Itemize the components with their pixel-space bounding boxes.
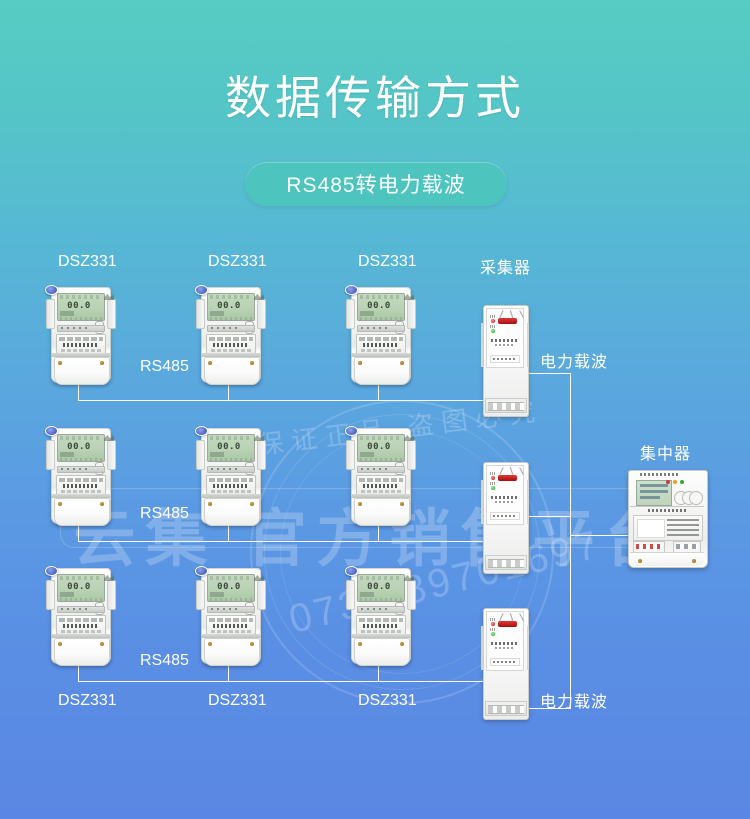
meter-right-bracket (107, 580, 116, 610)
concentrator-terminal-row (633, 541, 701, 551)
meter-reading: 00.0 (358, 442, 400, 452)
meter-button-strip[interactable] (357, 606, 405, 613)
nameplate-barcode (63, 484, 99, 488)
nameplate-line-3 (61, 630, 101, 633)
nameplate-line-3 (361, 490, 401, 493)
collector-terminal-block (485, 701, 527, 716)
screw-left-icon (358, 642, 362, 646)
meter-lcd-display: 00.0 (207, 434, 255, 462)
meter-dsz331-r2c1[interactable]: 00.0 (45, 426, 117, 526)
collector-notice-box (490, 355, 520, 363)
collector-pointer-lines-icon (499, 467, 525, 475)
nameplate-line-1 (59, 337, 103, 341)
seal-sticker-icon (345, 285, 358, 295)
screw-right-icon (250, 361, 254, 365)
meter-right-bracket (107, 440, 116, 470)
collector-left-notch (481, 626, 483, 670)
collector-status-strip (498, 318, 517, 324)
collector-front-panel (486, 308, 524, 368)
label-collector: 采集器 (480, 254, 531, 278)
screw-left-icon (58, 502, 62, 506)
label-carrier-row3: 电力载波 (540, 688, 608, 712)
screw-left-icon (58, 642, 62, 646)
meter-button-strip[interactable] (207, 466, 255, 473)
nameplate-line-3 (211, 630, 251, 633)
meter-button-strip[interactable] (357, 325, 405, 332)
nameplate-line-3 (211, 490, 251, 493)
collector-status-strip (498, 621, 517, 627)
lcd-segment-row (210, 576, 252, 580)
lcd-bar-indicator (60, 592, 74, 597)
lcd-bottom-row (360, 598, 402, 601)
label-rs485-row3: RS485 (140, 652, 189, 670)
lcd-segment-row (360, 436, 402, 440)
seal-sticker-icon (45, 566, 58, 576)
meter-lcd-display: 00.0 (357, 434, 405, 462)
lcd-bar-indicator (60, 452, 74, 457)
watermark-phone: 0731-89701697 (279, 521, 610, 644)
meter-lcd-display: 00.0 (357, 574, 405, 602)
nameplate-barcode (213, 484, 249, 488)
lcd-bottom-row (210, 598, 252, 601)
collector-spec-text (495, 647, 515, 649)
meter-right-bracket (257, 440, 266, 470)
seal-sticker-icon (345, 426, 358, 436)
lcd-segment-row (60, 576, 102, 580)
mode-pill[interactable]: RS485转电力载波 (245, 162, 507, 206)
lcd-bar-indicator (360, 592, 374, 597)
seal-sticker-icon (195, 285, 208, 295)
screw-right-icon (250, 642, 254, 646)
meter-dsz331-r2c2[interactable]: 00.0 (195, 426, 267, 526)
lcd-bar-indicator (210, 592, 224, 597)
meter-button-strip[interactable] (207, 325, 255, 332)
meter-reading: 00.0 (358, 582, 400, 592)
screw-left-icon (208, 502, 212, 506)
meter-left-bracket (46, 580, 55, 610)
meter-reading: 00.0 (358, 301, 400, 311)
label-meter-r3c3: DSZ331 (358, 692, 417, 710)
meter-right-bracket (407, 440, 416, 470)
meter-button-strip[interactable] (57, 466, 105, 473)
meter-button-strip[interactable] (357, 466, 405, 473)
meter-lcd-display: 00.0 (357, 293, 405, 321)
meter-nameplate (356, 475, 406, 495)
label-concentrator: 集中器 (640, 440, 691, 464)
concentrator-keypad[interactable] (674, 490, 700, 506)
screw-right-icon (400, 502, 404, 506)
concentrator-divider (630, 506, 704, 507)
collector-label-tick-2 (490, 628, 496, 631)
lcd-bar-indicator (360, 311, 374, 316)
collector-red-led-icon (491, 319, 495, 323)
collector-label-tick-2 (490, 325, 496, 328)
meter-lcd-display: 00.0 (57, 434, 105, 462)
meter-dsz331-r3c3[interactable]: 00.0 (345, 566, 417, 666)
meter-right-bracket (257, 580, 266, 610)
meter-left-bracket (346, 440, 355, 470)
lcd-bottom-row (360, 317, 402, 320)
collector-front-panel (486, 465, 524, 525)
collector-green-led-icon (491, 486, 495, 490)
meter-left-bracket (346, 299, 355, 329)
collector-red-led-icon (491, 476, 495, 480)
meter-dsz331-r3c2[interactable]: 00.0 (195, 566, 267, 666)
meter-nameplate (206, 334, 256, 354)
label-meter-r1c3: DSZ331 (358, 253, 417, 271)
lcd-bar-indicator (210, 311, 224, 316)
label-carrier-row1: 电力载波 (540, 348, 608, 372)
lcd-bar-indicator (360, 452, 374, 457)
meter-dsz331-r3c1[interactable]: 00.0 (45, 566, 117, 666)
meter-dsz331-r2c3[interactable]: 00.0 (345, 426, 417, 526)
concentrator-led-group (666, 480, 684, 488)
lcd-segment-row (360, 576, 402, 580)
collector-green-led-icon (491, 632, 495, 636)
nameplate-spec-text (667, 519, 699, 536)
collector-row1[interactable] (483, 305, 527, 415)
nameplate-line-1 (209, 618, 253, 622)
collector-model-text (491, 339, 519, 342)
collector-red-led-icon (491, 622, 495, 626)
nameplate-barcode (63, 343, 99, 347)
diagram-canvas: 保证正品 盗图必究 云集 官方销售平台 0731-89701697 数据传输方式… (0, 0, 750, 819)
collector-label-tick-1 (490, 315, 496, 318)
label-rs485-row1: RS485 (140, 358, 189, 376)
collector-left-notch (481, 323, 483, 367)
collector-front-panel (486, 611, 524, 671)
meter-reading: 00.0 (208, 301, 250, 311)
lcd-bottom-row (60, 458, 102, 461)
lcd-bottom-row (210, 458, 252, 461)
wire-trunk-to-concentrator (570, 535, 628, 536)
collector-row3[interactable] (483, 608, 527, 718)
nameplate-barcode (363, 343, 399, 347)
collector-notice-box (490, 658, 520, 666)
screw-left-icon (208, 642, 212, 646)
meter-left-bracket (196, 440, 205, 470)
meter-right-bracket (257, 299, 266, 329)
lcd-bar-indicator (210, 452, 224, 457)
screw-right-icon (400, 642, 404, 646)
lcd-segment-row (210, 295, 252, 299)
nameplate-line-3 (61, 490, 101, 493)
meter-lcd-display: 00.0 (57, 574, 105, 602)
screw-right-icon (400, 361, 404, 365)
collector-row2[interactable] (483, 462, 527, 572)
meter-nameplate (56, 475, 106, 495)
meter-dsz331-r1c1[interactable]: 00.0 (45, 285, 117, 385)
lcd-bottom-row (360, 458, 402, 461)
meter-right-bracket (107, 299, 116, 329)
nameplate-window (637, 519, 665, 538)
label-rs485-row2: RS485 (140, 505, 189, 523)
meter-reading: 00.0 (208, 582, 250, 592)
concentrator-brand-text (648, 509, 688, 512)
screw-right-icon (100, 642, 104, 646)
meter-reading: 00.0 (208, 442, 250, 452)
screw-left-icon (208, 361, 212, 365)
nameplate-barcode (213, 343, 249, 347)
meter-nameplate (356, 615, 406, 635)
collector-label-tick-1 (490, 472, 496, 475)
nameplate-line-1 (59, 618, 103, 622)
collector-right-notch (527, 323, 529, 367)
meter-dsz331-r1c2[interactable]: 00.0 (195, 285, 267, 385)
screw-left-icon (58, 361, 62, 365)
seal-sticker-icon (345, 566, 358, 576)
collector-model-text (491, 642, 519, 645)
collector-left-notch (481, 480, 483, 524)
lcd-text-line (640, 490, 668, 493)
meter-button-strip[interactable] (57, 325, 105, 332)
collector-terminal-block (485, 555, 527, 570)
lcd-bottom-row (210, 317, 252, 320)
lcd-segment-row (60, 436, 102, 440)
seal-sticker-icon (45, 426, 58, 436)
wire-carrier-trunk (570, 373, 571, 709)
screw-left-icon (358, 361, 362, 365)
wire-bus-rs485-row3 (78, 681, 506, 682)
screw-right-icon (100, 502, 104, 506)
wire-bus-rs485-row1 (78, 400, 506, 401)
meter-dsz331-r1c3[interactable]: 00.0 (345, 285, 417, 385)
meter-left-bracket (46, 440, 55, 470)
nameplate-line-3 (361, 349, 401, 352)
mode-pill-label: RS485转电力载波 (286, 169, 465, 199)
meter-button-strip[interactable] (207, 606, 255, 613)
collector-label-tick-2 (490, 482, 496, 485)
lcd-text-line (640, 484, 668, 487)
meter-left-bracket (346, 580, 355, 610)
collector-pointer-lines-icon (499, 310, 525, 318)
screw-right-icon (100, 361, 104, 365)
label-meter-r3c1: DSZ331 (58, 692, 117, 710)
concentrator-model-text (640, 473, 680, 476)
lcd-segment-row (360, 295, 402, 299)
meter-left-bracket (46, 299, 55, 329)
meter-lcd-display: 00.0 (207, 293, 255, 321)
nameplate-barcode (363, 624, 399, 628)
lcd-text-line (640, 496, 660, 499)
meter-nameplate (56, 615, 106, 635)
collector-right-notch (527, 480, 529, 524)
nameplate-line-1 (359, 337, 403, 341)
concentrator-device[interactable] (628, 470, 706, 566)
meter-lcd-display: 00.0 (57, 293, 105, 321)
meter-left-bracket (196, 299, 205, 329)
collector-spec-text (495, 501, 515, 503)
collector-label-tick-1 (490, 618, 496, 621)
meter-nameplate (206, 475, 256, 495)
collector-spec-text (495, 344, 515, 346)
screw-left-icon (358, 502, 362, 506)
nameplate-line-1 (359, 618, 403, 622)
meter-lcd-display: 00.0 (207, 574, 255, 602)
meter-reading: 00.0 (58, 442, 100, 452)
lcd-segment-row (210, 436, 252, 440)
collector-notice-box (490, 512, 520, 520)
nameplate-barcode (213, 624, 249, 628)
screw-right-icon (250, 502, 254, 506)
nameplate-barcode (63, 624, 99, 628)
collector-right-notch (527, 626, 529, 670)
label-meter-r1c1: DSZ331 (58, 253, 117, 271)
collector-model-text (491, 496, 519, 499)
meter-right-bracket (407, 580, 416, 610)
label-meter-r1c2: DSZ331 (208, 253, 267, 271)
nameplate-line-3 (61, 349, 101, 352)
lcd-bar-indicator (60, 311, 74, 316)
nameplate-line-3 (361, 630, 401, 633)
meter-nameplate (356, 334, 406, 354)
wire-bus-rs485-row2 (78, 541, 506, 542)
lcd-bottom-row (60, 317, 102, 320)
meter-reading: 00.0 (58, 582, 100, 592)
nameplate-line-3 (211, 349, 251, 352)
meter-right-bracket (407, 299, 416, 329)
screw-right-icon (692, 559, 696, 563)
lcd-bottom-row (60, 598, 102, 601)
meter-nameplate (206, 615, 256, 635)
nameplate-line-1 (59, 478, 103, 482)
screw-left-icon (638, 559, 642, 563)
meter-nameplate (56, 334, 106, 354)
meter-left-bracket (196, 580, 205, 610)
nameplate-line-1 (359, 478, 403, 482)
nameplate-line-1 (209, 337, 253, 341)
seal-sticker-icon (195, 426, 208, 436)
page-title: 数据传输方式 (0, 62, 750, 128)
lcd-segment-row (60, 295, 102, 299)
meter-button-strip[interactable] (57, 606, 105, 613)
collector-terminal-block (485, 398, 527, 413)
nameplate-line-1 (209, 478, 253, 482)
nameplate-barcode (363, 484, 399, 488)
seal-sticker-icon (45, 285, 58, 295)
concentrator-nameplate (633, 515, 703, 541)
collector-status-strip (498, 475, 517, 481)
seal-sticker-icon (195, 566, 208, 576)
meter-reading: 00.0 (58, 301, 100, 311)
collector-green-led-icon (491, 329, 495, 333)
collector-pointer-lines-icon (499, 613, 525, 621)
label-meter-r3c2: DSZ331 (208, 692, 267, 710)
